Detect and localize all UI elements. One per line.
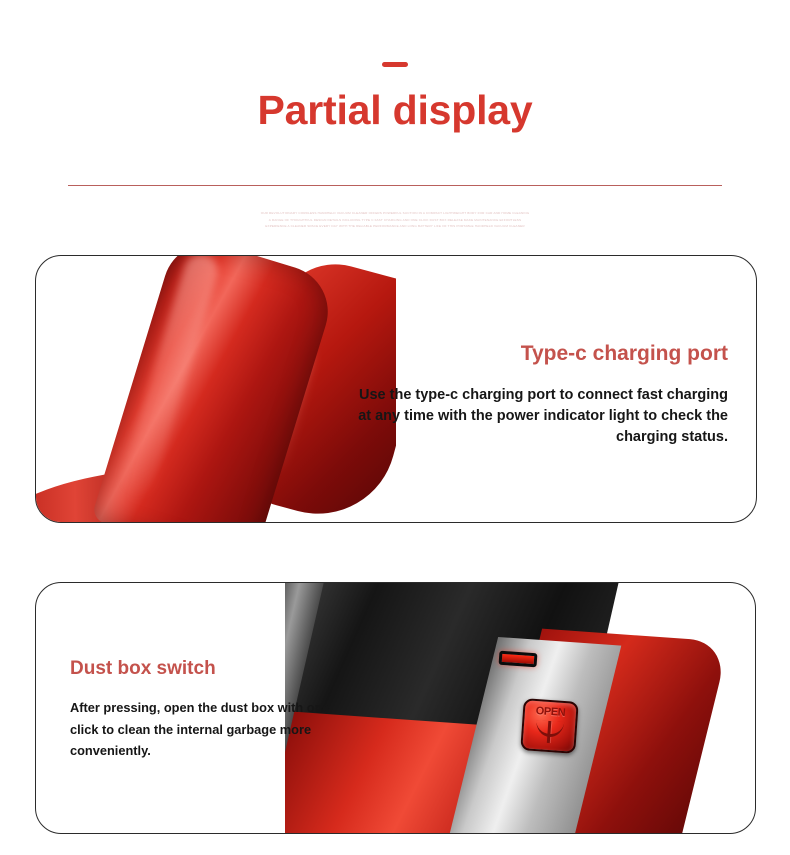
accent-dash-icon: [382, 62, 408, 67]
charging-port-body: Use the type-c charging port to connect …: [356, 385, 728, 448]
dust-box-text-block: Dust box switch After pressing, open the…: [70, 659, 340, 762]
open-release-button[interactable]: OPEN: [520, 698, 578, 754]
product-photo-dust-box-switch: OPEN: [285, 583, 755, 833]
page-title: Partial display: [0, 90, 790, 131]
microtext-line: EXPERIENCE A CLEANER SPACE EVERY DAY WIT…: [0, 223, 790, 230]
product-detail-page: Partial display OUR REVOLUTIONARY CORDLE…: [0, 0, 790, 855]
product-photo-charging-port: [36, 256, 396, 522]
header-divider: [68, 185, 722, 186]
microtext-line: A RANGE OF THOUGHTFUL DESIGN DETAILS INC…: [0, 217, 790, 224]
dust-box-heading: Dust box switch: [70, 659, 340, 680]
charging-port-text-block: Type-c charging port Use the type-c char…: [356, 342, 728, 448]
charging-indicator-slot-icon: [499, 651, 538, 668]
dust-box-body: After pressing, open the dust box with o…: [70, 697, 340, 762]
charging-port-heading: Type-c charging port: [356, 342, 728, 365]
page-header: Partial display: [0, 0, 790, 131]
release-arrow-icon: [533, 718, 565, 746]
feature-card-dust-box-switch: OPEN Dust box switch After pressing, ope…: [35, 582, 756, 834]
open-button-label: OPEN: [535, 706, 565, 719]
microtext-line: OUR REVOLUTIONARY CORDLESS HANDHELD VACU…: [0, 210, 790, 217]
decorative-microtext: OUR REVOLUTIONARY CORDLESS HANDHELD VACU…: [0, 210, 790, 230]
feature-card-charging-port: Type-c charging port Use the type-c char…: [35, 255, 757, 523]
